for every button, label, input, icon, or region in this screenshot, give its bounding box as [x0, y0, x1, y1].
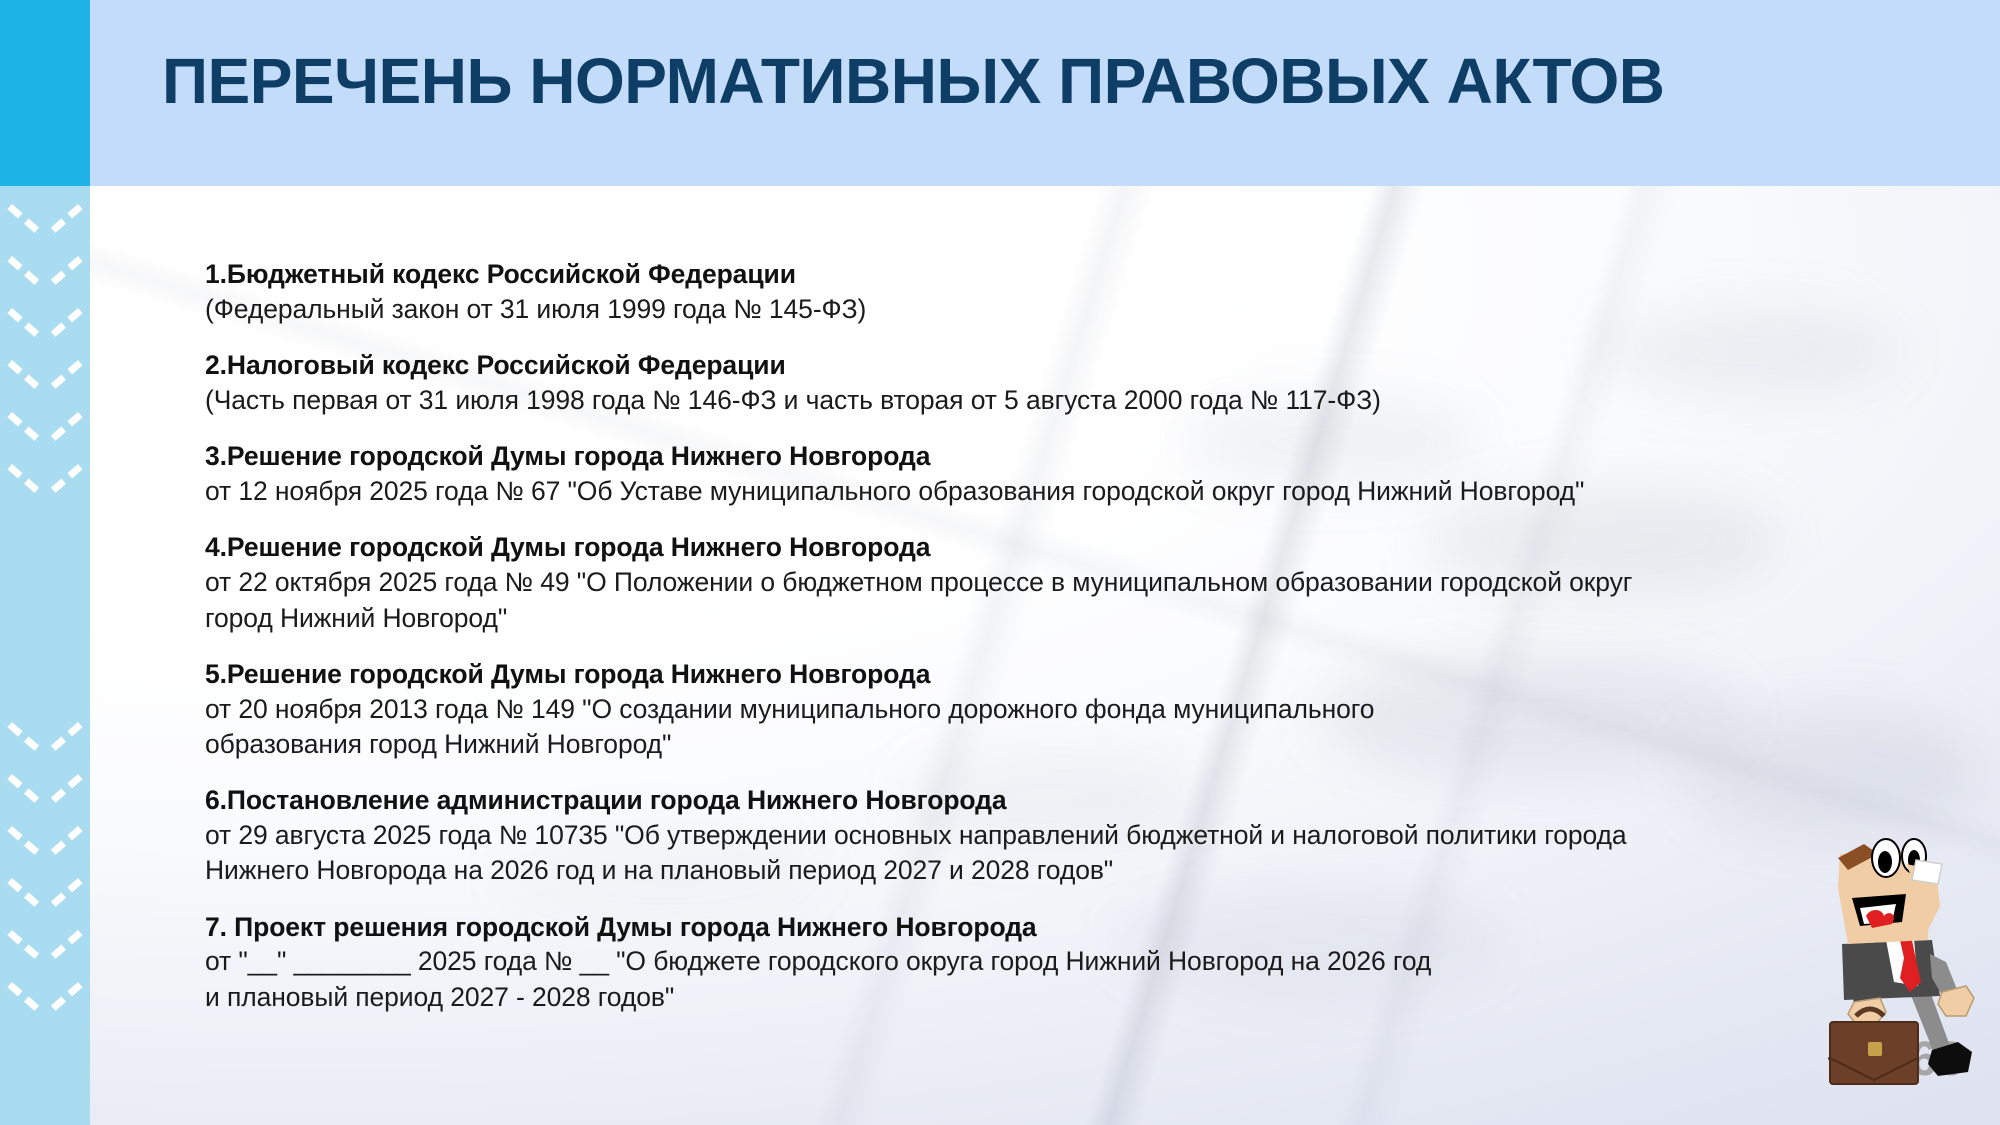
chevron-down-icon: [12, 308, 78, 350]
act-body-line: от 12 ноября 2025 года № 67 "Об Уставе м…: [205, 474, 1805, 509]
act-body-line: (Федеральный закон от 31 июля 1999 года …: [205, 292, 1805, 327]
act-body: от 29 августа 2025 года № 10735 "Об утве…: [205, 818, 1805, 888]
act-title: 7. Проект решения городской Думы города …: [205, 911, 1805, 945]
act-body: от 22 октября 2025 года № 49 "О Положени…: [205, 565, 1805, 635]
acts-list: 1.Бюджетный кодекс Российской Федерации …: [205, 258, 1805, 1037]
act-title: 2.Налоговый кодекс Российской Федерации: [205, 349, 1805, 383]
act-body: (Часть первая от 31 июля 1998 года № 146…: [205, 383, 1805, 418]
chevron-down-icon: [12, 412, 78, 454]
act-body-line: (Часть первая от 31 июля 1998 года № 146…: [205, 383, 1805, 418]
act-body: от "__" ________ 2025 года № __ "О бюдже…: [205, 944, 1805, 1014]
businessman-with-briefcase-icon: [1790, 836, 2000, 1121]
slide-root: ПЕРЕЧЕНЬ НОРМАТИВНЫХ ПРАВОВЫХ АКТОВ 1.Бю…: [0, 0, 2000, 1125]
chevron-down-icon: [12, 930, 78, 972]
chevron-down-icon: [12, 360, 78, 402]
list-item: 3.Решение городской Думы города Нижнего …: [205, 440, 1805, 509]
chevron-down-icon: [12, 256, 78, 298]
act-title: 5.Решение городской Думы города Нижнего …: [205, 658, 1805, 692]
act-body: (Федеральный закон от 31 июля 1999 года …: [205, 292, 1805, 327]
act-body-line: от 29 августа 2025 года № 10735 "Об утве…: [205, 818, 1805, 853]
act-body-line: Нижнего Новгорода на 2026 год и на плано…: [205, 853, 1805, 888]
act-body: от 12 ноября 2025 года № 67 "Об Уставе м…: [205, 474, 1805, 509]
act-body-line: от "__" ________ 2025 года № __ "О бюдже…: [205, 944, 1805, 979]
chevron-down-icon: [12, 774, 78, 816]
act-body-line: город Нижний Новгород": [205, 601, 1805, 636]
act-title: 4.Решение городской Думы города Нижнего …: [205, 531, 1805, 565]
chevron-down-icon: [12, 722, 78, 764]
list-item: 2.Налоговый кодекс Российской Федерации …: [205, 349, 1805, 418]
act-body-line: от 22 октября 2025 года № 49 "О Положени…: [205, 565, 1805, 600]
act-title: 3.Решение городской Думы города Нижнего …: [205, 440, 1805, 474]
act-title: 6.Постановление администрации города Ниж…: [205, 784, 1805, 818]
act-title: 1.Бюджетный кодекс Российской Федерации: [205, 258, 1805, 292]
act-body: от 20 ноября 2013 года № 149 "О создании…: [205, 692, 1805, 762]
chevron-down-icon: [12, 982, 78, 1024]
sidebar-decoration: [0, 186, 90, 1125]
chevron-down-icon: [12, 464, 78, 506]
header-accent-block: [0, 0, 90, 186]
chevron-down-icon: [12, 878, 78, 920]
list-item: 6.Постановление администрации города Ниж…: [205, 784, 1805, 888]
act-body-line: образования город Нижний Новгород": [205, 727, 1805, 762]
chevron-down-icon: [12, 204, 78, 246]
list-item: 7. Проект решения городской Думы города …: [205, 911, 1805, 1015]
list-item: 1.Бюджетный кодекс Российской Федерации …: [205, 258, 1805, 327]
page-title: ПЕРЕЧЕНЬ НОРМАТИВНЫХ ПРАВОВЫХ АКТОВ: [162, 44, 1952, 118]
chevron-down-icon: [12, 826, 78, 868]
act-body-line: от 20 ноября 2013 года № 149 "О создании…: [205, 692, 1805, 727]
act-body-line: и плановый период 2027 - 2028 годов": [205, 980, 1805, 1015]
list-item: 4.Решение городской Думы города Нижнего …: [205, 531, 1805, 635]
list-item: 5.Решение городской Думы города Нижнего …: [205, 658, 1805, 762]
